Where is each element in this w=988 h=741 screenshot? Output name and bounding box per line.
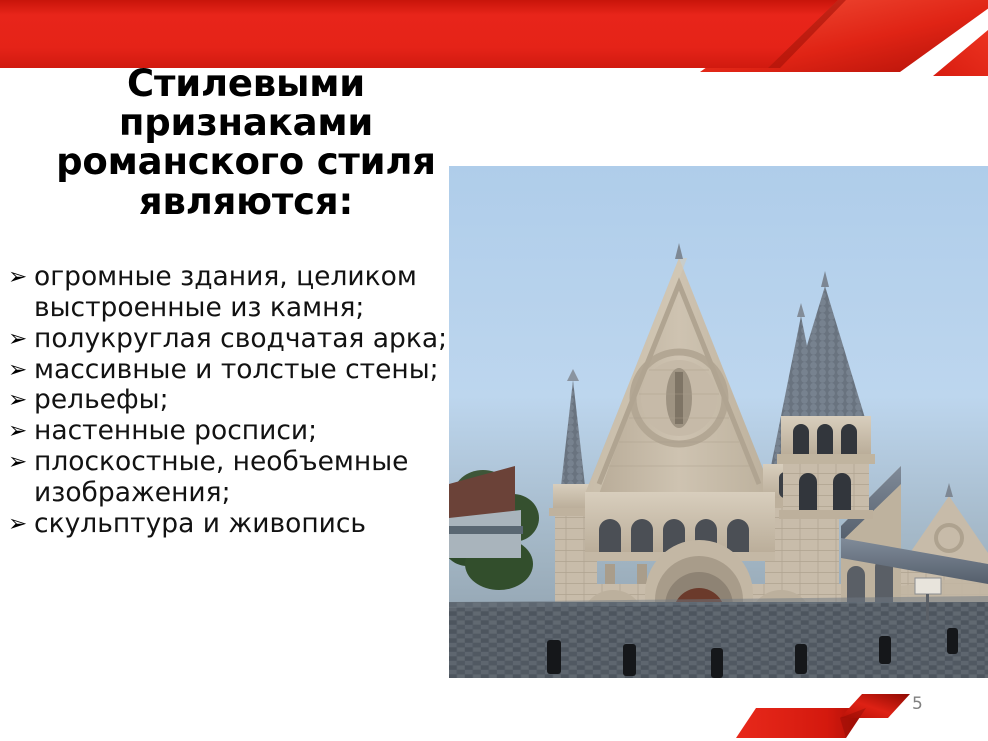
- footer-ribbon-shape-group: [700, 676, 988, 741]
- slide-canvas: Стилевыми признаками романского стиля яв…: [0, 0, 988, 741]
- bullet-list: ➢огромные здания, целиком выстроенные из…: [8, 262, 488, 540]
- list-item-text: полукруглая сводчатая арка;: [34, 323, 447, 354]
- arrow-bullet-icon: ➢: [8, 418, 34, 445]
- list-item: ➢настенные росписи;: [8, 416, 488, 447]
- banner-main-bar: [0, 0, 846, 68]
- arrow-bullet-icon: ➢: [8, 326, 34, 353]
- footer-ribbon-fold: [840, 708, 866, 738]
- list-item: ➢полукруглая сводчатая арка;: [8, 324, 488, 355]
- list-item-text: плоскостные, необъемные изображения;: [34, 446, 408, 508]
- arrow-bullet-icon: ➢: [8, 387, 34, 414]
- church-illustration: [449, 166, 988, 678]
- arrow-bullet-icon: ➢: [8, 357, 34, 384]
- list-item-text: настенные росписи;: [34, 415, 317, 446]
- arrow-bullet-icon: ➢: [8, 264, 34, 291]
- banner-fold-shadow: [768, 0, 846, 68]
- footer-ribbon-decoration: [700, 676, 988, 741]
- list-item-text: массивные и толстые стены;: [34, 354, 439, 385]
- footer-ribbon-lower: [736, 708, 866, 738]
- footer-ribbon-upper: [840, 694, 910, 718]
- list-item: ➢рельефы;: [8, 385, 488, 416]
- banner-main-bar-front: [0, 0, 838, 68]
- list-item: ➢плоскостные, необъемные изображения;: [8, 447, 488, 509]
- arrow-bullet-icon: ➢: [8, 511, 34, 538]
- arrow-bullet-icon: ➢: [8, 449, 34, 476]
- list-item: ➢массивные и толстые стены;: [8, 355, 488, 386]
- romanesque-church-photo: [449, 166, 988, 678]
- list-item-text: огромные здания, целиком выстроенные из …: [34, 261, 417, 323]
- page-title: Стилевыми признаками романского стиля яв…: [0, 64, 492, 221]
- banner-ribbon-band: [700, 0, 988, 72]
- list-item: ➢огромные здания, целиком выстроенные из…: [8, 262, 488, 324]
- page-number: 5: [912, 694, 923, 714]
- list-item-text: скульптура и живопись: [34, 508, 366, 539]
- list-item-text: рельефы;: [34, 384, 169, 415]
- list-item: ➢скульптура и живопись: [8, 509, 488, 540]
- banner-corner-triangle: [933, 30, 988, 76]
